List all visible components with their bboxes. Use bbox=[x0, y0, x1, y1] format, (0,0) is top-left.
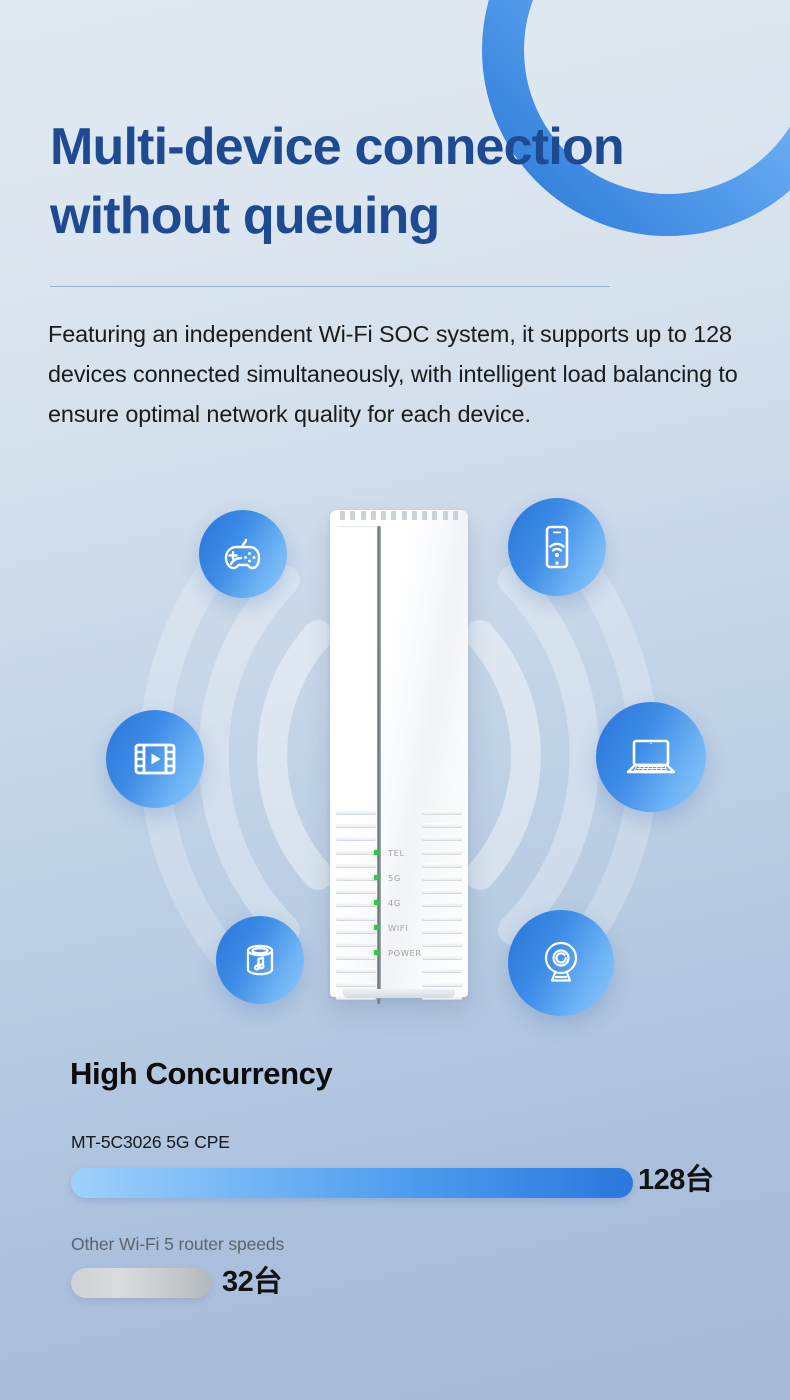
led-label-5g: 5G bbox=[388, 873, 401, 883]
stat-value-secondary: 32台 bbox=[222, 1268, 282, 1297]
hero-illustration: TEL 5G 4G WIFI bbox=[0, 470, 790, 1040]
smart-speaker-icon bbox=[237, 937, 283, 983]
stat-label-primary: MT-5C3026 5G CPE bbox=[71, 1132, 230, 1153]
led-row-4g: 4G bbox=[374, 890, 460, 915]
led-indicator-4g bbox=[374, 900, 379, 905]
gamepad-icon bbox=[219, 530, 267, 578]
led-row-wifi: WIFI bbox=[374, 915, 460, 940]
led-indicator-tel bbox=[374, 850, 379, 855]
headline-line-1: Multi-device connection bbox=[50, 118, 624, 176]
led-label-4g: 4G bbox=[388, 898, 401, 908]
device-bubble-camera bbox=[508, 910, 614, 1016]
led-label-tel: TEL bbox=[388, 848, 405, 858]
led-indicator-5g bbox=[374, 875, 379, 880]
led-label-wifi: WIFI bbox=[388, 923, 408, 933]
video-film-icon bbox=[128, 732, 182, 786]
stat-label-secondary: Other Wi-Fi 5 router speeds bbox=[71, 1234, 284, 1255]
led-row-power: POWER bbox=[374, 940, 460, 965]
router-base bbox=[343, 989, 455, 998]
cpe-router-device: TEL 5G 4G WIFI bbox=[330, 500, 468, 1005]
stat-bar-secondary bbox=[71, 1268, 211, 1298]
led-row-tel: TEL bbox=[374, 840, 460, 865]
device-bubble-video bbox=[106, 710, 204, 808]
router-body: TEL 5G 4G WIFI bbox=[330, 510, 468, 997]
led-label-power: POWER bbox=[388, 948, 422, 958]
promo-page: Multi-device connection without queuing … bbox=[0, 0, 790, 1400]
laptop-icon bbox=[620, 726, 682, 788]
page-title: Multi-device connection without queuing bbox=[50, 113, 760, 250]
led-indicator-wifi bbox=[374, 925, 379, 930]
body-paragraph: Featuring an independent Wi-Fi SOC syste… bbox=[48, 314, 748, 434]
stats-title: High Concurrency bbox=[70, 1056, 332, 1092]
device-bubble-smartphone bbox=[508, 498, 606, 596]
divider bbox=[50, 286, 610, 287]
device-bubble-speaker bbox=[216, 916, 304, 1004]
led-indicator-power bbox=[374, 950, 379, 955]
device-bubble-laptop bbox=[596, 702, 706, 812]
webcam-icon bbox=[533, 935, 589, 991]
device-bubble-gamepad bbox=[199, 510, 287, 598]
router-vents-left bbox=[336, 810, 376, 1000]
router-led-panel: TEL 5G 4G WIFI bbox=[374, 840, 460, 965]
stat-value-primary: 128台 bbox=[638, 1166, 713, 1195]
smartphone-wifi-icon bbox=[531, 521, 583, 573]
led-row-5g: 5G bbox=[374, 865, 460, 890]
headline-line-2: without queuing bbox=[50, 187, 439, 245]
router-top-vents bbox=[340, 511, 458, 520]
stat-bar-primary bbox=[71, 1168, 633, 1198]
router-panel-edge bbox=[338, 526, 378, 527]
